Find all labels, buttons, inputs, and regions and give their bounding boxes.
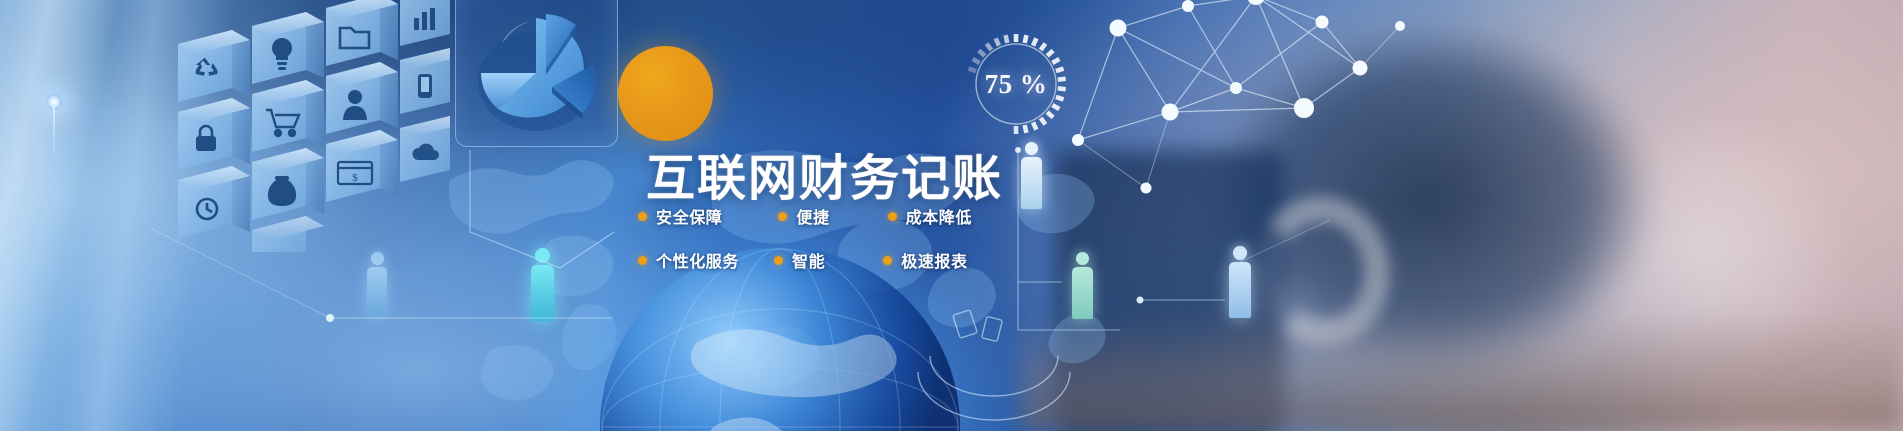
feature-list: 安全保障 便捷 成本降低 个性化服务 智能 bbox=[614, 194, 1034, 282]
banner-content: 互联网财务记账 安全保障 便捷 成本降低 个性化服务 bbox=[614, 42, 1094, 312]
orange-accent-circle bbox=[618, 46, 713, 141]
feature-label: 极速报表 bbox=[901, 248, 967, 272]
bullet-dot-icon bbox=[778, 212, 787, 221]
feature-label: 安全保障 bbox=[656, 204, 722, 228]
feature-item-personalized-service[interactable]: 个性化服务 bbox=[638, 248, 739, 272]
bullet-dot-icon bbox=[638, 256, 647, 265]
feature-item-cost-reduction[interactable]: 成本降低 bbox=[888, 204, 972, 228]
bullet-dot-icon bbox=[638, 212, 647, 221]
feature-item-intelligent[interactable]: 智能 bbox=[774, 248, 825, 272]
bullet-dot-icon bbox=[888, 212, 897, 221]
feature-item-security[interactable]: 安全保障 bbox=[638, 204, 722, 228]
bullet-dot-icon bbox=[774, 256, 783, 265]
feature-label: 成本降低 bbox=[906, 204, 972, 228]
feature-label: 便捷 bbox=[796, 204, 829, 228]
feature-label: 智能 bbox=[792, 248, 825, 272]
feature-item-fast-reports[interactable]: 极速报表 bbox=[883, 248, 967, 272]
finance-banner: $ bbox=[0, 0, 1903, 431]
feature-row-1: 安全保障 便捷 成本降低 bbox=[614, 194, 1034, 238]
bullet-dot-icon bbox=[883, 256, 892, 265]
feature-item-convenient[interactable]: 便捷 bbox=[778, 204, 829, 228]
feature-label: 个性化服务 bbox=[656, 248, 739, 272]
feature-row-2: 个性化服务 智能 极速报表 bbox=[614, 238, 1034, 282]
